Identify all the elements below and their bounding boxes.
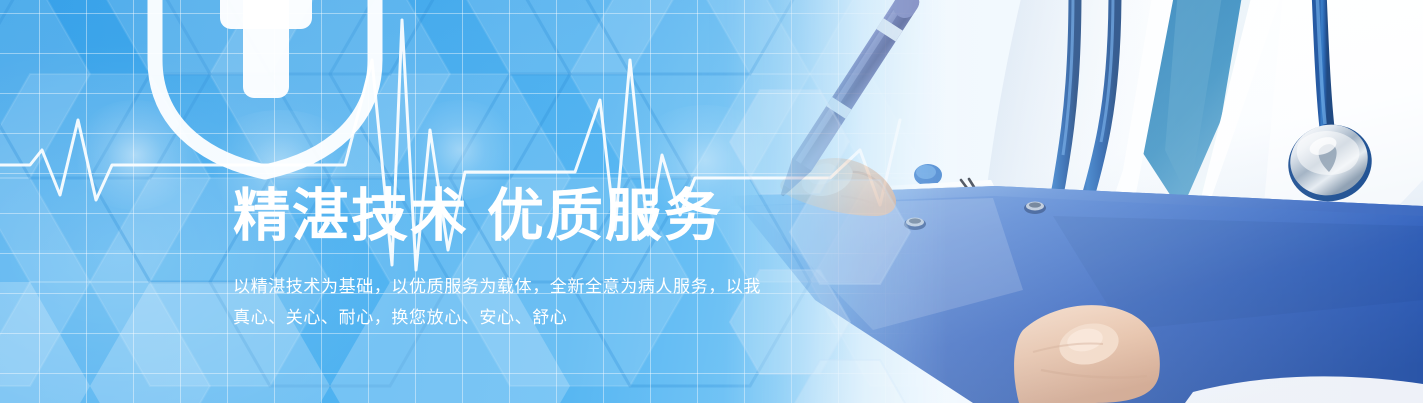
subtitle-line-2: 真心、关心、耐心，换您放心、安心、舒心 [233,302,833,333]
medical-hero-banner: 精湛技术 优质服务 以精湛技术为基础，以优质服务为载体，全新全意为病人服务，以我… [0,0,1423,403]
page-title: 精湛技术 优质服务 [233,186,833,248]
subtitle-block: 以精湛技术为基础，以优质服务为载体，全新全意为病人服务，以我 真心、关心、耐心，… [233,271,833,333]
banner-copy: 精湛技术 优质服务 以精湛技术为基础，以优质服务为载体，全新全意为病人服务，以我… [233,186,833,333]
subtitle-line-1: 以精湛技术为基础，以优质服务为载体，全新全意为病人服务，以我 [233,271,833,302]
